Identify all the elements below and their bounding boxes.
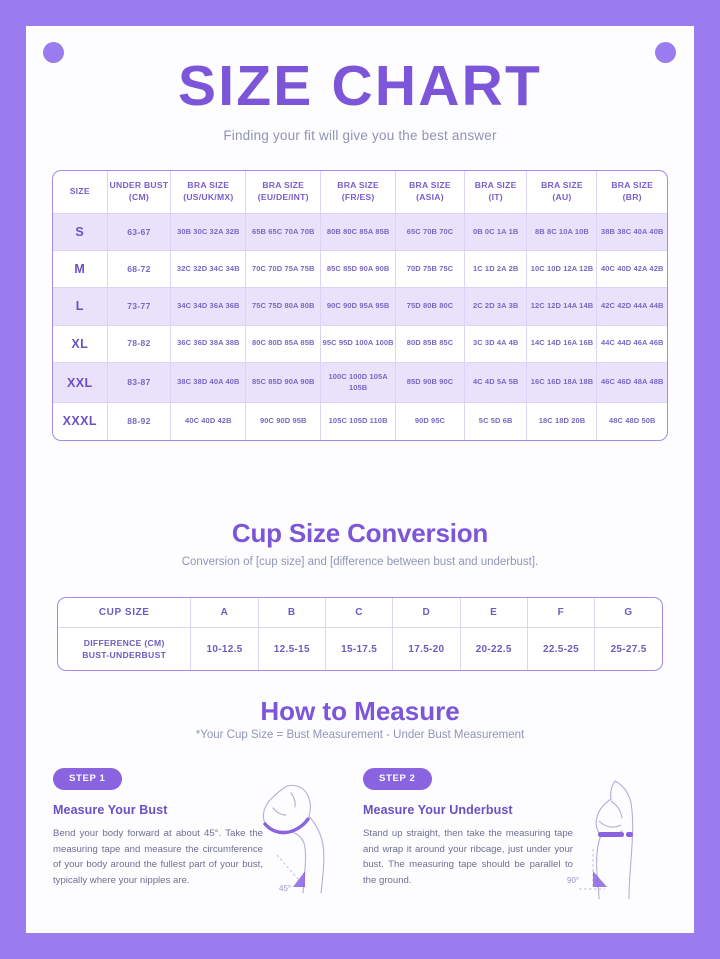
- size-chart-table: SIZE UNDER BUST (CM) BRA SIZE (US/UK/MX)…: [53, 171, 667, 440]
- cell-under-bust: 83-87: [107, 362, 171, 403]
- cup-size-table: CUP SIZE ABCDEFG DIFFERENCE (CM) BUST-UN…: [58, 598, 662, 670]
- poster-frame: SIZE CHART Finding your fit will give yo…: [0, 0, 720, 959]
- cell-it: 5C 5D 6B: [464, 403, 527, 440]
- col-header-line2: (AU): [552, 192, 571, 202]
- size-chart-table-container: SIZE UNDER BUST (CM) BRA SIZE (US/UK/MX)…: [52, 170, 668, 441]
- cell-fr-es: 85C 85D 90A 90B: [321, 251, 396, 288]
- step-1-body: Bend your body forward at about 45°. Tak…: [53, 826, 263, 888]
- table-row: L73-7734C 34D 36A 36B75C 75D 80A 80B90C …: [53, 288, 667, 325]
- cup-difference-g: 25-27.5: [595, 628, 662, 671]
- cell-eu-de-int: 75C 75D 80A 80B: [246, 288, 321, 325]
- step-2-body: Stand up straight, then take the measuri…: [363, 826, 573, 888]
- col-header-line2: (CM): [129, 192, 149, 202]
- table-row: XL78-8236C 36D 38A 38B80C 80D 85A 85B95C…: [53, 325, 667, 362]
- cell-asia: 70D 75B 75C: [396, 251, 465, 288]
- cell-asia: 85D 90B 90C: [396, 362, 465, 403]
- col-header-line2: (IT): [488, 192, 502, 202]
- cell-us-uk-mx: 30B 30C 32A 32B: [171, 214, 246, 251]
- cell-fr-es: 90C 90D 95A 95B: [321, 288, 396, 325]
- col-header-br: BRA SIZE (BR): [597, 171, 667, 214]
- cell-br: 38B 38C 40A 40B: [597, 214, 667, 251]
- col-header-us-uk-mx: BRA SIZE (US/UK/MX): [171, 171, 246, 214]
- cell-br: 42C 42D 44A 44B: [597, 288, 667, 325]
- cell-eu-de-int: 90C 90D 95B: [246, 403, 321, 440]
- cell-eu-de-int: 85C 85D 90A 90B: [246, 362, 321, 403]
- col-header-line1: UNDER BUST: [110, 180, 169, 190]
- col-header-line1: BRA SIZE: [475, 180, 517, 190]
- cell-us-uk-mx: 38C 38D 40A 40B: [171, 362, 246, 403]
- cell-asia: 75D 80B 80C: [396, 288, 465, 325]
- table-row: XXXL88-9240C 40D 42B90C 90D 95B105C 105D…: [53, 403, 667, 440]
- cup-header-g: G: [595, 598, 662, 628]
- col-header-size: SIZE: [53, 171, 107, 214]
- page-title: SIZE CHART: [0, 58, 720, 115]
- cell-us-uk-mx: 32C 32D 34C 34B: [171, 251, 246, 288]
- cup-difference-a: 10-12.5: [191, 628, 258, 671]
- cell-au: 10C 10D 12A 12B: [527, 251, 597, 288]
- cell-au: 14C 14D 16A 16B: [527, 325, 597, 362]
- col-header-line2: (EU/DE/INT): [258, 192, 309, 202]
- cell-fr-es: 105C 105D 110B: [321, 403, 396, 440]
- col-header-line2: (BR): [623, 192, 642, 202]
- cell-au: 12C 12D 14A 14B: [527, 288, 597, 325]
- cell-size: L: [53, 288, 107, 325]
- cell-it: 1C 1D 2A 2B: [464, 251, 527, 288]
- size-chart-body: S63-6730B 30C 32A 32B65B 65C 70A 70B80B …: [53, 214, 667, 440]
- table-row: S63-6730B 30C 32A 32B65B 65C 70A 70B80B …: [53, 214, 667, 251]
- angle-label-45: 45°: [279, 884, 291, 893]
- angle-label-90: 90°: [567, 876, 579, 885]
- cell-it: 4C 4D 5A 5B: [464, 362, 527, 403]
- cup-difference-label-line2: BUST-UNDERBUST: [82, 650, 166, 660]
- cell-au: 8B 8C 10A 10B: [527, 214, 597, 251]
- cup-header-f: F: [527, 598, 594, 628]
- cell-it: 0B 0C 1A 1B: [464, 214, 527, 251]
- cup-header-a: A: [191, 598, 258, 628]
- cell-under-bust: 63-67: [107, 214, 171, 251]
- cup-conversion-title: Cup Size Conversion: [0, 518, 720, 549]
- step-2-badge: STEP 2: [363, 768, 432, 790]
- col-header-line1: BRA SIZE: [409, 180, 451, 190]
- col-header-it: BRA SIZE (IT): [464, 171, 527, 214]
- cell-under-bust: 68-72: [107, 251, 171, 288]
- col-header-line1: BRA SIZE: [611, 180, 653, 190]
- cup-header-b: B: [258, 598, 325, 628]
- cell-size: M: [53, 251, 107, 288]
- cup-header-d: D: [393, 598, 460, 628]
- cell-asia: 80D 85B 85C: [396, 325, 465, 362]
- cell-size: XL: [53, 325, 107, 362]
- cell-fr-es: 100C 100D 105A 105B: [321, 362, 396, 403]
- cup-difference-label-line1: DIFFERENCE (CM): [84, 638, 165, 648]
- cup-header-label: CUP SIZE: [58, 598, 191, 628]
- col-header-line2: (US/UK/MX): [183, 192, 233, 202]
- size-chart-header-row: SIZE UNDER BUST (CM) BRA SIZE (US/UK/MX)…: [53, 171, 667, 214]
- cup-difference-f: 22.5-25: [527, 628, 594, 671]
- cell-br: 40C 40D 42A 42B: [597, 251, 667, 288]
- col-header-au: BRA SIZE (AU): [527, 171, 597, 214]
- cell-us-uk-mx: 40C 40D 42B: [171, 403, 246, 440]
- col-header-line1: SIZE: [70, 186, 90, 196]
- cell-us-uk-mx: 34C 34D 36A 36B: [171, 288, 246, 325]
- cell-size: S: [53, 214, 107, 251]
- cell-eu-de-int: 80C 80D 85A 85B: [246, 325, 321, 362]
- col-header-fr-es: BRA SIZE (FR/ES): [321, 171, 396, 214]
- cell-under-bust: 73-77: [107, 288, 171, 325]
- cup-difference-d: 17.5-20: [393, 628, 460, 671]
- cell-au: 18C 18D 20B: [527, 403, 597, 440]
- step-1-badge: STEP 1: [53, 768, 122, 790]
- col-header-under-bust: UNDER BUST (CM): [107, 171, 171, 214]
- col-header-line2: (ASIA): [416, 192, 444, 202]
- cell-it: 3C 3D 4A 4B: [464, 325, 527, 362]
- how-to-measure-subtitle: *Your Cup Size = Bust Measurement - Unde…: [0, 729, 720, 741]
- cup-table-body-row: DIFFERENCE (CM) BUST-UNDERBUST 10-12.512…: [58, 628, 662, 671]
- col-header-line2: (FR/ES): [342, 192, 375, 202]
- col-header-eu-de-int: BRA SIZE (EU/DE/INT): [246, 171, 321, 214]
- col-header-line1: BRA SIZE: [187, 180, 229, 190]
- cell-eu-de-int: 65B 65C 70A 70B: [246, 214, 321, 251]
- cup-table-header-row: CUP SIZE ABCDEFG: [58, 598, 662, 628]
- cup-difference-e: 20-22.5: [460, 628, 527, 671]
- cell-size: XXL: [53, 362, 107, 403]
- table-row: XXL83-8738C 38D 40A 40B85C 85D 90A 90B10…: [53, 362, 667, 403]
- cell-it: 2C 2D 3A 3B: [464, 288, 527, 325]
- cell-fr-es: 95C 95D 100A 100B: [321, 325, 396, 362]
- cell-br: 46C 46D 48A 48B: [597, 362, 667, 403]
- col-header-line1: BRA SIZE: [541, 180, 583, 190]
- cell-us-uk-mx: 36C 36D 38A 38B: [171, 325, 246, 362]
- page-subtitle: Finding your fit will give you the best …: [0, 128, 720, 143]
- cup-size-table-container: CUP SIZE ABCDEFG DIFFERENCE (CM) BUST-UN…: [57, 597, 663, 671]
- cell-eu-de-int: 70C 70D 75A 75B: [246, 251, 321, 288]
- cell-size: XXXL: [53, 403, 107, 440]
- cell-br: 48C 48D 50B: [597, 403, 667, 440]
- cell-br: 44C 44D 46A 46B: [597, 325, 667, 362]
- how-to-measure-title: How to Measure: [0, 696, 720, 727]
- cell-under-bust: 88-92: [107, 403, 171, 440]
- col-header-line1: BRA SIZE: [337, 180, 379, 190]
- table-row: M68-7232C 32D 34C 34B70C 70D 75A 75B85C …: [53, 251, 667, 288]
- cell-au: 16C 16D 18A 18B: [527, 362, 597, 403]
- cup-header-c: C: [325, 598, 392, 628]
- cell-asia: 65C 70B 70C: [396, 214, 465, 251]
- cup-difference-label: DIFFERENCE (CM) BUST-UNDERBUST: [58, 628, 191, 671]
- cup-header-e: E: [460, 598, 527, 628]
- cell-asia: 90D 95C: [396, 403, 465, 440]
- underbust-measure-illustration: 90°: [553, 775, 658, 900]
- cup-difference-c: 15-17.5: [325, 628, 392, 671]
- cell-fr-es: 80B 80C 85A 85B: [321, 214, 396, 251]
- col-header-line1: BRA SIZE: [262, 180, 304, 190]
- bust-measure-illustration: 45°: [243, 775, 348, 900]
- cell-under-bust: 78-82: [107, 325, 171, 362]
- cup-conversion-subtitle: Conversion of [cup size] and [difference…: [0, 556, 720, 568]
- col-header-asia: BRA SIZE (ASIA): [396, 171, 465, 214]
- cup-difference-b: 12.5-15: [258, 628, 325, 671]
